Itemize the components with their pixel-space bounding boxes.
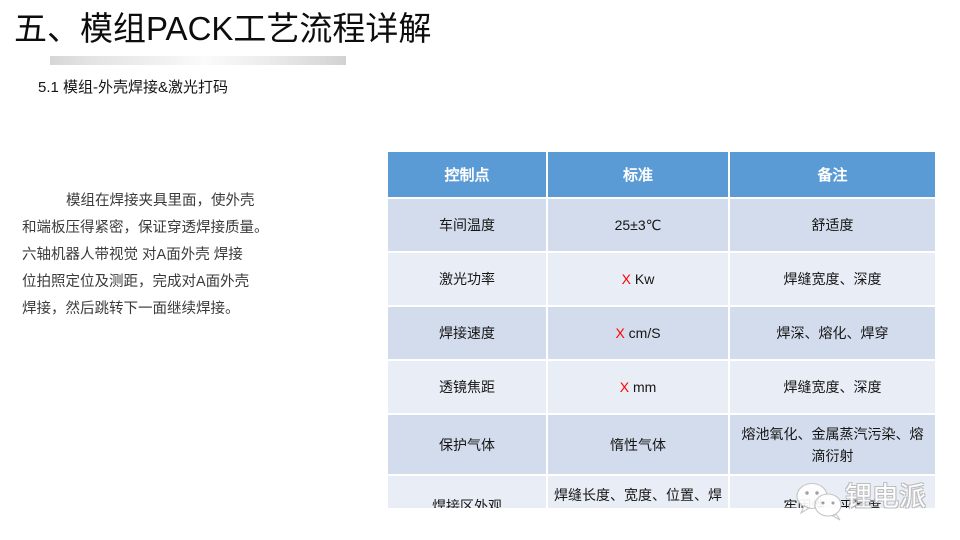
cell-remark: 焊缝宽度、深度: [730, 361, 935, 415]
slide-canvas: 五、模组PACK工艺流程详解 5.1 模组-外壳焊接&激光打码 模组在焊接夹具里…: [0, 0, 960, 540]
cell-remark: 舒适度: [730, 199, 935, 253]
control-point-table: 控制点 标准 备注 车间温度 25±3℃ 舒适度 激光功率 X Kw 焊缝宽度、…: [388, 152, 935, 508]
cell-control-point: 保护气体: [388, 415, 548, 476]
standard-highlight: X: [615, 325, 624, 341]
table-row: 激光功率 X Kw 焊缝宽度、深度: [388, 253, 935, 307]
table-row: 焊接区外观 焊缝长度、宽度、位置、焊渣 牢固性、平整度: [388, 476, 935, 508]
standard-highlight: X: [620, 379, 629, 395]
cell-remark: 熔池氧化、金属蒸汽污染、熔滴衍射: [730, 415, 935, 476]
title-block: 五、模组PACK工艺流程详解 5.1 模组-外壳焊接&激光打码: [14, 8, 534, 99]
cell-control-point: 车间温度: [388, 199, 548, 253]
table-row: 车间温度 25±3℃ 舒适度: [388, 199, 935, 253]
cell-standard: X mm: [548, 361, 730, 415]
control-point-table-wrapper: 控制点 标准 备注 车间温度 25±3℃ 舒适度 激光功率 X Kw 焊缝宽度、…: [388, 152, 935, 508]
title-divider: [50, 56, 346, 65]
column-header-standard: 标准: [548, 152, 730, 199]
cell-standard: 25±3℃: [548, 199, 730, 253]
paragraph-line: 位拍照定位及测距，完成对A面外壳: [22, 269, 290, 296]
standard-text: mm: [629, 379, 656, 395]
column-header-control-point: 控制点: [388, 152, 548, 199]
standard-text: 25±3℃: [615, 217, 662, 233]
table-row: 焊接速度 X cm/S 焊深、熔化、焊穿: [388, 307, 935, 361]
table-row: 透镜焦距 X mm 焊缝宽度、深度: [388, 361, 935, 415]
column-header-remark: 备注: [730, 152, 935, 199]
cell-standard: 惰性气体: [548, 415, 730, 476]
cell-remark: 焊深、熔化、焊穿: [730, 307, 935, 361]
cell-standard: X Kw: [548, 253, 730, 307]
paragraph-line: 焊接，然后跳转下一面继续焊接。: [22, 296, 290, 323]
standard-highlight: X: [622, 271, 631, 287]
cell-control-point: 焊接速度: [388, 307, 548, 361]
page-title: 五、模组PACK工艺流程详解: [14, 8, 534, 50]
cell-control-point: 激光功率: [388, 253, 548, 307]
cell-remark: 牢固性、平整度: [730, 476, 935, 508]
page-subtitle: 5.1 模组-外壳焊接&激光打码: [38, 77, 534, 99]
cell-remark: 焊缝宽度、深度: [730, 253, 935, 307]
paragraph-line: 模组在焊接夹具里面，使外壳: [22, 188, 290, 215]
body-paragraph: 模组在焊接夹具里面，使外壳 和端板压得紧密，保证穿透焊接质量。 六轴机器人带视觉…: [22, 188, 290, 323]
cell-standard: 焊缝长度、宽度、位置、焊渣: [548, 476, 730, 508]
standard-text: Kw: [631, 271, 654, 287]
table-row: 保护气体 惰性气体 熔池氧化、金属蒸汽污染、熔滴衍射: [388, 415, 935, 476]
standard-text: 惰性气体: [610, 437, 666, 453]
paragraph-line: 六轴机器人带视觉 对A面外壳 焊接: [22, 242, 290, 269]
cell-control-point: 透镜焦距: [388, 361, 548, 415]
table-header-row: 控制点 标准 备注: [388, 152, 935, 199]
paragraph-line: 和端板压得紧密，保证穿透焊接质量。: [22, 215, 290, 242]
standard-text: 焊缝长度、宽度、位置、焊渣: [554, 487, 722, 509]
cell-control-point: 焊接区外观: [388, 476, 548, 508]
cell-standard: X cm/S: [548, 307, 730, 361]
standard-text: cm/S: [625, 325, 661, 341]
